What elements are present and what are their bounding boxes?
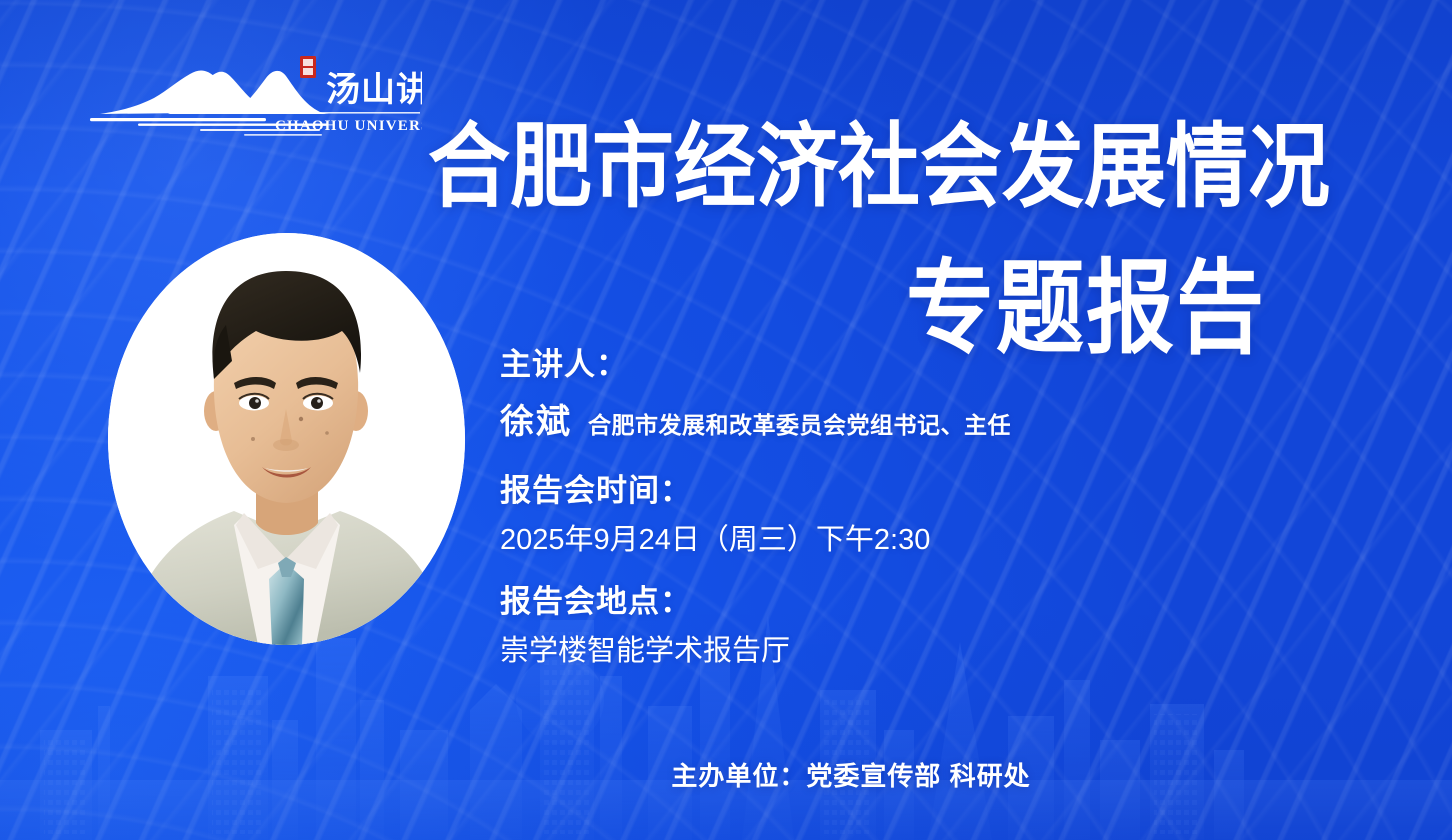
place-label: 报告会地点：: [500, 582, 1380, 622]
logo-name-cn: 汤山讲坛: [326, 71, 422, 109]
organizer-footer: 主办单位：党委宣传部 科研处: [0, 756, 1452, 793]
avatar: [108, 233, 465, 645]
time-value: 2025年9月24日（周三）下午2:30: [500, 520, 1380, 560]
speaker-title: 合肥市发展和改革委员会党组书记、主任: [588, 404, 1011, 446]
speaker-label: 主讲人：: [500, 345, 1380, 385]
poster-canvas: 汤山讲坛 CHAOHU UNIVERSITY: [0, 0, 1452, 840]
speaker-name: 徐斌: [500, 401, 572, 443]
red-seal-icon: [300, 56, 316, 78]
speaker-row: 徐斌 合肥市发展和改革委员会党组书记、主任: [500, 401, 1380, 446]
organizer-text: 主办单位：党委宣传部 科研处: [671, 761, 1030, 791]
chaohu-university-logo: 汤山讲坛 CHAOHU UNIVERSITY: [72, 52, 422, 144]
logo-name-en: CHAOHU UNIVERSITY: [275, 118, 422, 134]
event-details: 主讲人： 徐斌 合肥市发展和改革委员会党组书记、主任 报告会时间： 2025年9…: [500, 345, 1380, 671]
speaker-portrait-avatar: [108, 233, 465, 645]
time-label: 报告会时间：: [500, 471, 1380, 511]
place-value: 崇学楼智能学术报告厅: [500, 631, 1380, 671]
